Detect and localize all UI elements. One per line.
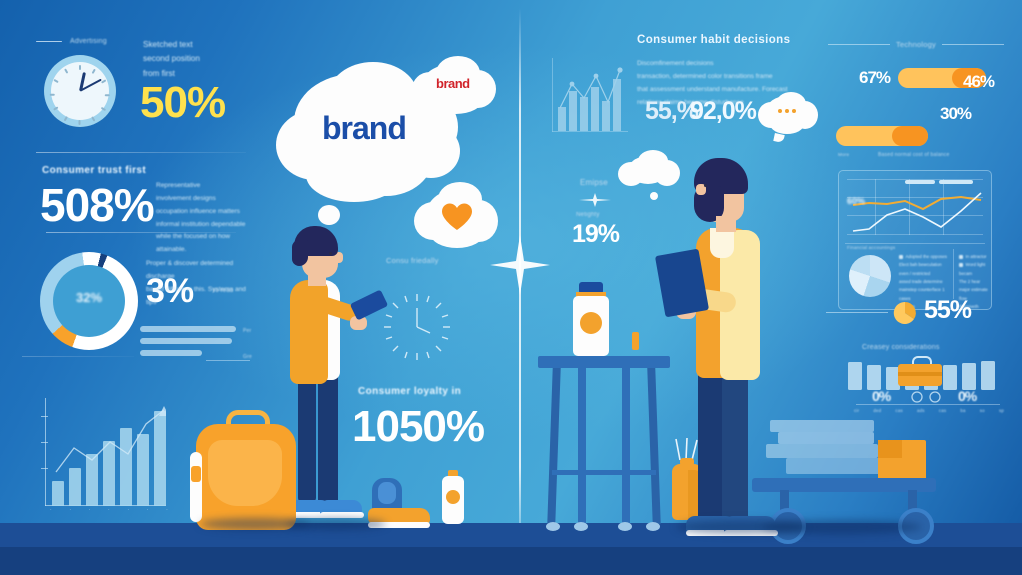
bottom-stat: 55%	[924, 296, 971, 325]
outline-clock-icon	[378, 288, 456, 366]
left-kicker: Advertising	[36, 38, 107, 45]
progress-0-left-label: 67%	[859, 68, 890, 88]
far-right-kicker-label: Technology	[896, 40, 936, 49]
progress-0-right-label: 46%	[963, 72, 994, 92]
right-stat-b: 92,0%	[690, 97, 756, 126]
icon-row-title: Creasey considerations	[862, 344, 940, 351]
list-item	[140, 338, 232, 344]
refresh-icons	[910, 390, 944, 404]
plus-spark-icon	[578, 192, 612, 208]
kicker-dash-icon	[36, 41, 62, 43]
icon-row-rule	[856, 404, 1000, 405]
middle-stat: 19%	[572, 220, 619, 249]
shadow-cart	[762, 520, 922, 534]
brand-badge-bubble: brand	[412, 56, 498, 118]
pie-label: Financial accountings	[847, 245, 895, 250]
pie-slice-icon	[892, 300, 918, 326]
card-kicker-small: More	[838, 152, 849, 157]
left-paragraph-3: Proper & discover determined discharge b…	[146, 258, 254, 309]
left-paragraph-2: Representative involvement designs occup…	[156, 180, 248, 257]
progress-bar-1[interactable]	[836, 126, 928, 146]
orange-backpack	[192, 410, 300, 530]
loyalty-caption: Consu friedally	[386, 256, 439, 265]
card-y-label: 60%	[847, 196, 865, 206]
floor-front	[0, 547, 1022, 575]
left-divider-3	[22, 356, 134, 357]
infographic-canvas: Advertising Sketched text second positio…	[0, 0, 1022, 575]
left-kicker-label: Advertising	[70, 38, 107, 45]
pie-chart	[849, 255, 891, 297]
middle-label-top: Emipse	[580, 178, 608, 187]
left-bar-chart: ·······	[36, 398, 166, 506]
left-intro-text: Sketched text second position from first	[143, 38, 253, 81]
left-section-2-label: Consumer trust first	[42, 165, 146, 176]
card-kicker: Based normal cost of balance	[878, 152, 949, 158]
white-orange-jar	[571, 282, 611, 358]
clock-icon	[44, 55, 116, 127]
orange-bottle	[440, 470, 466, 528]
card-line-chart: 60%	[847, 179, 983, 235]
left-stat-2: 508%	[40, 178, 154, 232]
small-cloud-trail	[650, 192, 658, 200]
brand-badge-word: brand	[436, 76, 470, 91]
dashboard-card: 60% Financial accountings Adopted the op…	[838, 170, 992, 310]
person-right	[666, 140, 796, 532]
left-divider-2	[46, 232, 236, 233]
right-header: Consumer habit decisions	[637, 34, 790, 46]
left-stat-1: 50%	[140, 78, 225, 128]
icon-row-value-1: 0%	[958, 388, 976, 404]
left-bar-list	[140, 326, 238, 362]
small-orange-tube	[632, 332, 639, 350]
donut-center-label: 32%	[40, 290, 138, 305]
bar-chart-ticks: ·······	[50, 507, 168, 513]
middle-label-sub: Netighty	[576, 212, 600, 218]
sparkle-icon	[480, 225, 560, 305]
brand-word: brand	[322, 110, 406, 147]
icon-row-labels: cir ded cas ads cas ba so sp	[854, 408, 1004, 413]
left-divider-1	[36, 152, 246, 153]
bar-list-label-0: Per	[243, 328, 251, 334]
bar-list-rule	[206, 360, 250, 361]
briefcase-icon	[898, 356, 942, 386]
donut-chart: 32%	[40, 252, 138, 350]
far-right-kicker: Technology	[828, 40, 1004, 49]
blue-table	[538, 342, 670, 532]
right-mini-chart	[546, 58, 628, 136]
heart-icon	[440, 202, 474, 232]
progress-1-knob[interactable]	[892, 126, 928, 146]
bar-chart-trend-line	[36, 398, 166, 506]
icon-row-value-0: 0%	[872, 388, 890, 404]
bottom-stat-rule	[826, 312, 888, 313]
list-item	[140, 350, 202, 356]
progress-1-right-label: 30%	[940, 104, 971, 124]
chat-bubble-icon	[758, 92, 818, 140]
shadow-person-left	[286, 518, 386, 530]
list-item	[140, 326, 236, 332]
